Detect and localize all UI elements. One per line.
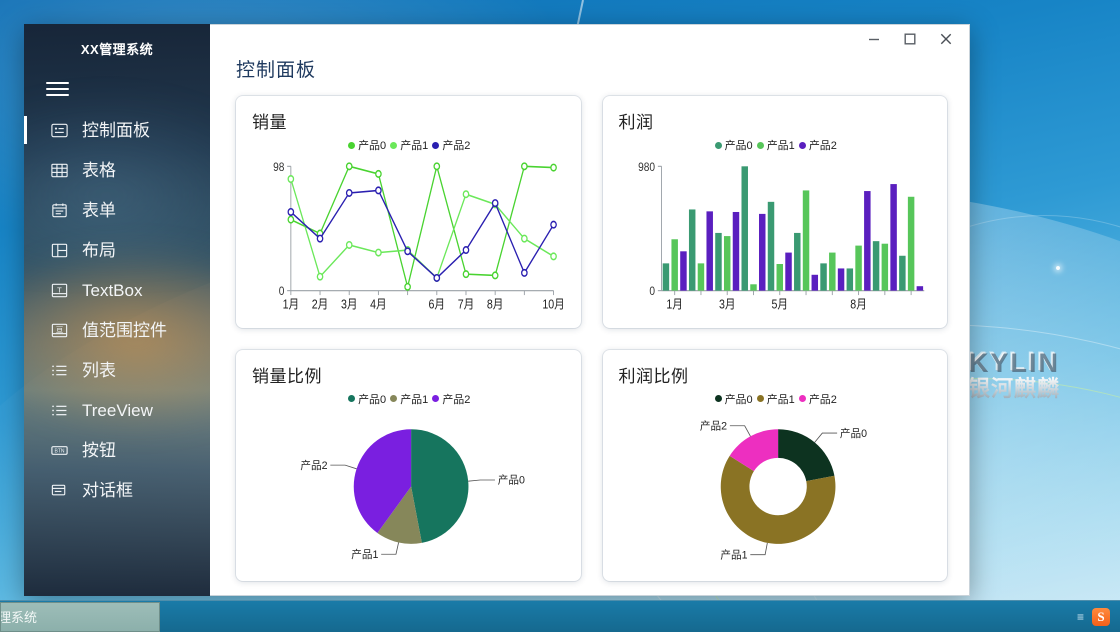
sidebar-item-treeview[interactable]: TreeView — [24, 390, 210, 430]
legend-swatch — [715, 395, 722, 402]
legend-entry: 产品0 — [348, 137, 386, 153]
svg-text:8月: 8月 — [850, 298, 867, 312]
application-window: XX管理系统 控制面板 — [24, 24, 970, 596]
legend-sales-pie: 产品0 产品1 产品2 — [252, 391, 567, 407]
sidebar: XX管理系统 控制面板 — [24, 24, 210, 596]
list-icon — [50, 361, 69, 380]
svg-text:产品2: 产品2 — [699, 419, 726, 432]
taskbar-window-button[interactable]: 管理系统 — [0, 602, 160, 632]
legend-entry: 产品1 — [757, 391, 795, 407]
page-title: 控制面板 — [210, 53, 969, 96]
legend-label: 产品0 — [358, 391, 386, 407]
svg-text:产品2: 产品2 — [300, 458, 327, 471]
sidebar-item-label: 表单 — [82, 202, 116, 219]
card-title: 利润比例 — [619, 362, 934, 387]
svg-text:5月: 5月 — [771, 298, 788, 312]
close-icon[interactable] — [929, 25, 963, 53]
table-icon — [50, 161, 69, 180]
card-sales-line: 销量 产品0 产品1 产品2 0981月2月 — [236, 96, 581, 328]
svg-text:7月: 7月 — [458, 298, 475, 312]
legend-entry: 产品2 — [799, 391, 837, 407]
layout-icon — [50, 241, 69, 260]
sidebar-item-label: 对话框 — [82, 482, 133, 499]
legend-label: 产品1 — [767, 391, 795, 407]
svg-text:4月: 4月 — [370, 298, 387, 312]
svg-text:T: T — [57, 285, 62, 294]
legend-entry: 产品0 — [348, 391, 386, 407]
svg-text:2月: 2月 — [312, 298, 329, 312]
sidebar-item-range-widget[interactable]: 亘 值范围控件 — [24, 310, 210, 350]
line-chart: 0981月2月3月4月6月7月8月10月 — [252, 153, 567, 320]
legend-label: 产品2 — [809, 391, 837, 407]
pie-chart: 产品0产品1产品2 — [252, 407, 567, 574]
chart-area-profit-donut: 产品0产品1产品2 — [619, 407, 934, 574]
svg-text:0: 0 — [649, 285, 655, 298]
legend-swatch — [390, 395, 397, 402]
form-icon — [50, 201, 69, 220]
legend-label: 产品2 — [809, 137, 837, 153]
legend-swatch — [348, 395, 355, 402]
svg-text:BTN: BTN — [54, 448, 64, 454]
sogou-ime-icon[interactable]: S — [1092, 608, 1110, 626]
tree-icon — [50, 401, 69, 420]
sidebar-item-label: 控制面板 — [82, 122, 150, 139]
svg-text:产品0: 产品0 — [498, 473, 525, 486]
dialog-icon — [50, 481, 69, 500]
hamburger-bars — [46, 82, 69, 96]
button-icon: BTN — [50, 441, 69, 460]
card-title: 销量 — [252, 108, 567, 133]
legend-swatch — [757, 142, 764, 149]
svg-text:产品1: 产品1 — [720, 548, 747, 561]
svg-text:产品1: 产品1 — [351, 547, 378, 560]
chart-area-sales-pie: 产品0产品1产品2 — [252, 407, 567, 574]
svg-text:8月: 8月 — [487, 298, 504, 312]
window-titlebar — [210, 25, 969, 53]
legend-label: 产品1 — [767, 137, 795, 153]
sidebar-item-label: 布局 — [82, 242, 116, 259]
legend-entry: 产品1 — [390, 391, 428, 407]
legend-swatch — [348, 142, 355, 149]
chart-area-profit-bar: 09801月3月5月8月 — [619, 153, 934, 320]
legend-label: 产品1 — [400, 137, 428, 153]
card-title: 利润 — [619, 108, 934, 133]
svg-text:亘: 亘 — [56, 325, 64, 334]
svg-text:98: 98 — [273, 161, 284, 174]
sidebar-item-label: TreeView — [82, 402, 153, 419]
legend-swatch — [432, 395, 439, 402]
svg-text:3月: 3月 — [341, 298, 358, 312]
wallpaper-sparkle — [1056, 266, 1060, 270]
legend-swatch — [757, 395, 764, 402]
svg-text:1月: 1月 — [283, 298, 300, 312]
legend-label: 产品2 — [442, 137, 470, 153]
legend-profit-bar: 产品0 产品1 产品2 — [619, 137, 934, 153]
legend-entry: 产品2 — [432, 391, 470, 407]
main-content-area: 控制面板 销量 产品0 产品1 产品2 — [210, 24, 970, 596]
svg-text:6月: 6月 — [429, 298, 446, 312]
legend-entry: 产品0 — [715, 137, 753, 153]
legend-label: 产品0 — [725, 391, 753, 407]
legend-entry: 产品0 — [715, 391, 753, 407]
sidebar-item-layout[interactable]: 布局 — [24, 230, 210, 270]
sidebar-item-label: 表格 — [82, 162, 116, 179]
app-brand-title: XX管理系统 — [24, 24, 210, 68]
legend-swatch — [799, 142, 806, 149]
range-icon: 亘 — [50, 321, 69, 340]
ime-menu-icon[interactable]: ≡ — [1077, 611, 1084, 623]
legend-label: 产品2 — [442, 391, 470, 407]
taskbar-window-label: 管理系统 — [0, 607, 37, 626]
svg-text:产品0: 产品0 — [839, 426, 866, 439]
legend-swatch — [799, 395, 806, 402]
bar-chart: 09801月3月5月8月 — [619, 153, 934, 320]
legend-sales-line: 产品0 产品1 产品2 — [252, 137, 567, 153]
minimize-icon[interactable] — [857, 25, 891, 53]
svg-text:10月: 10月 — [542, 298, 564, 312]
sidebar-item-dialog[interactable]: 对话框 — [24, 470, 210, 510]
legend-label: 产品0 — [358, 137, 386, 153]
card-title: 销量比例 — [252, 362, 567, 387]
legend-label: 产品1 — [400, 391, 428, 407]
dashboard-grid: 销量 产品0 产品1 产品2 0981月2月 — [210, 96, 969, 596]
sidebar-item-label: TextBox — [82, 282, 142, 299]
sidebar-item-form[interactable]: 表单 — [24, 190, 210, 230]
legend-swatch — [390, 142, 397, 149]
taskbar: 管理系统 ≡ S — [0, 600, 1120, 632]
legend-entry: 产品2 — [432, 137, 470, 153]
dashboard-icon — [50, 121, 69, 140]
legend-entry: 产品2 — [799, 137, 837, 153]
card-sales-pie: 销量比例 产品0 产品1 产品2 产品0产品 — [236, 350, 581, 582]
legend-entry: 产品1 — [390, 137, 428, 153]
svg-text:980: 980 — [638, 161, 655, 174]
sidebar-item-table[interactable]: 表格 — [24, 150, 210, 190]
chart-area-sales-line: 0981月2月3月4月6月7月8月10月 — [252, 153, 567, 320]
sidebar-item-label: 列表 — [82, 362, 116, 379]
svg-text:0: 0 — [279, 285, 285, 298]
sidebar-item-label: 按钮 — [82, 442, 116, 459]
card-profit-donut: 利润比例 产品0 产品1 产品2 产品0产品 — [603, 350, 948, 582]
card-profit-bar: 利润 产品0 产品1 产品2 09801月3 — [603, 96, 948, 328]
svg-text:1月: 1月 — [666, 298, 683, 312]
donut-chart: 产品0产品1产品2 — [619, 407, 934, 574]
sidebar-item-textbox[interactable]: T TextBox — [24, 270, 210, 310]
textbox-icon: T — [50, 281, 69, 300]
sidebar-item-dashboard[interactable]: 控制面板 — [24, 110, 210, 150]
system-tray: ≡ S — [1077, 608, 1120, 626]
maximize-icon[interactable] — [893, 25, 927, 53]
legend-swatch — [715, 142, 722, 149]
sidebar-item-list[interactable]: 列表 — [24, 350, 210, 390]
legend-swatch — [432, 142, 439, 149]
legend-label: 产品0 — [725, 137, 753, 153]
sidebar-item-button[interactable]: BTN 按钮 — [24, 430, 210, 470]
sidebar-item-label: 值范围控件 — [82, 322, 167, 339]
legend-profit-donut: 产品0 产品1 产品2 — [619, 391, 934, 407]
hamburger-icon[interactable] — [24, 68, 210, 110]
svg-text:3月: 3月 — [718, 298, 735, 312]
legend-entry: 产品1 — [757, 137, 795, 153]
